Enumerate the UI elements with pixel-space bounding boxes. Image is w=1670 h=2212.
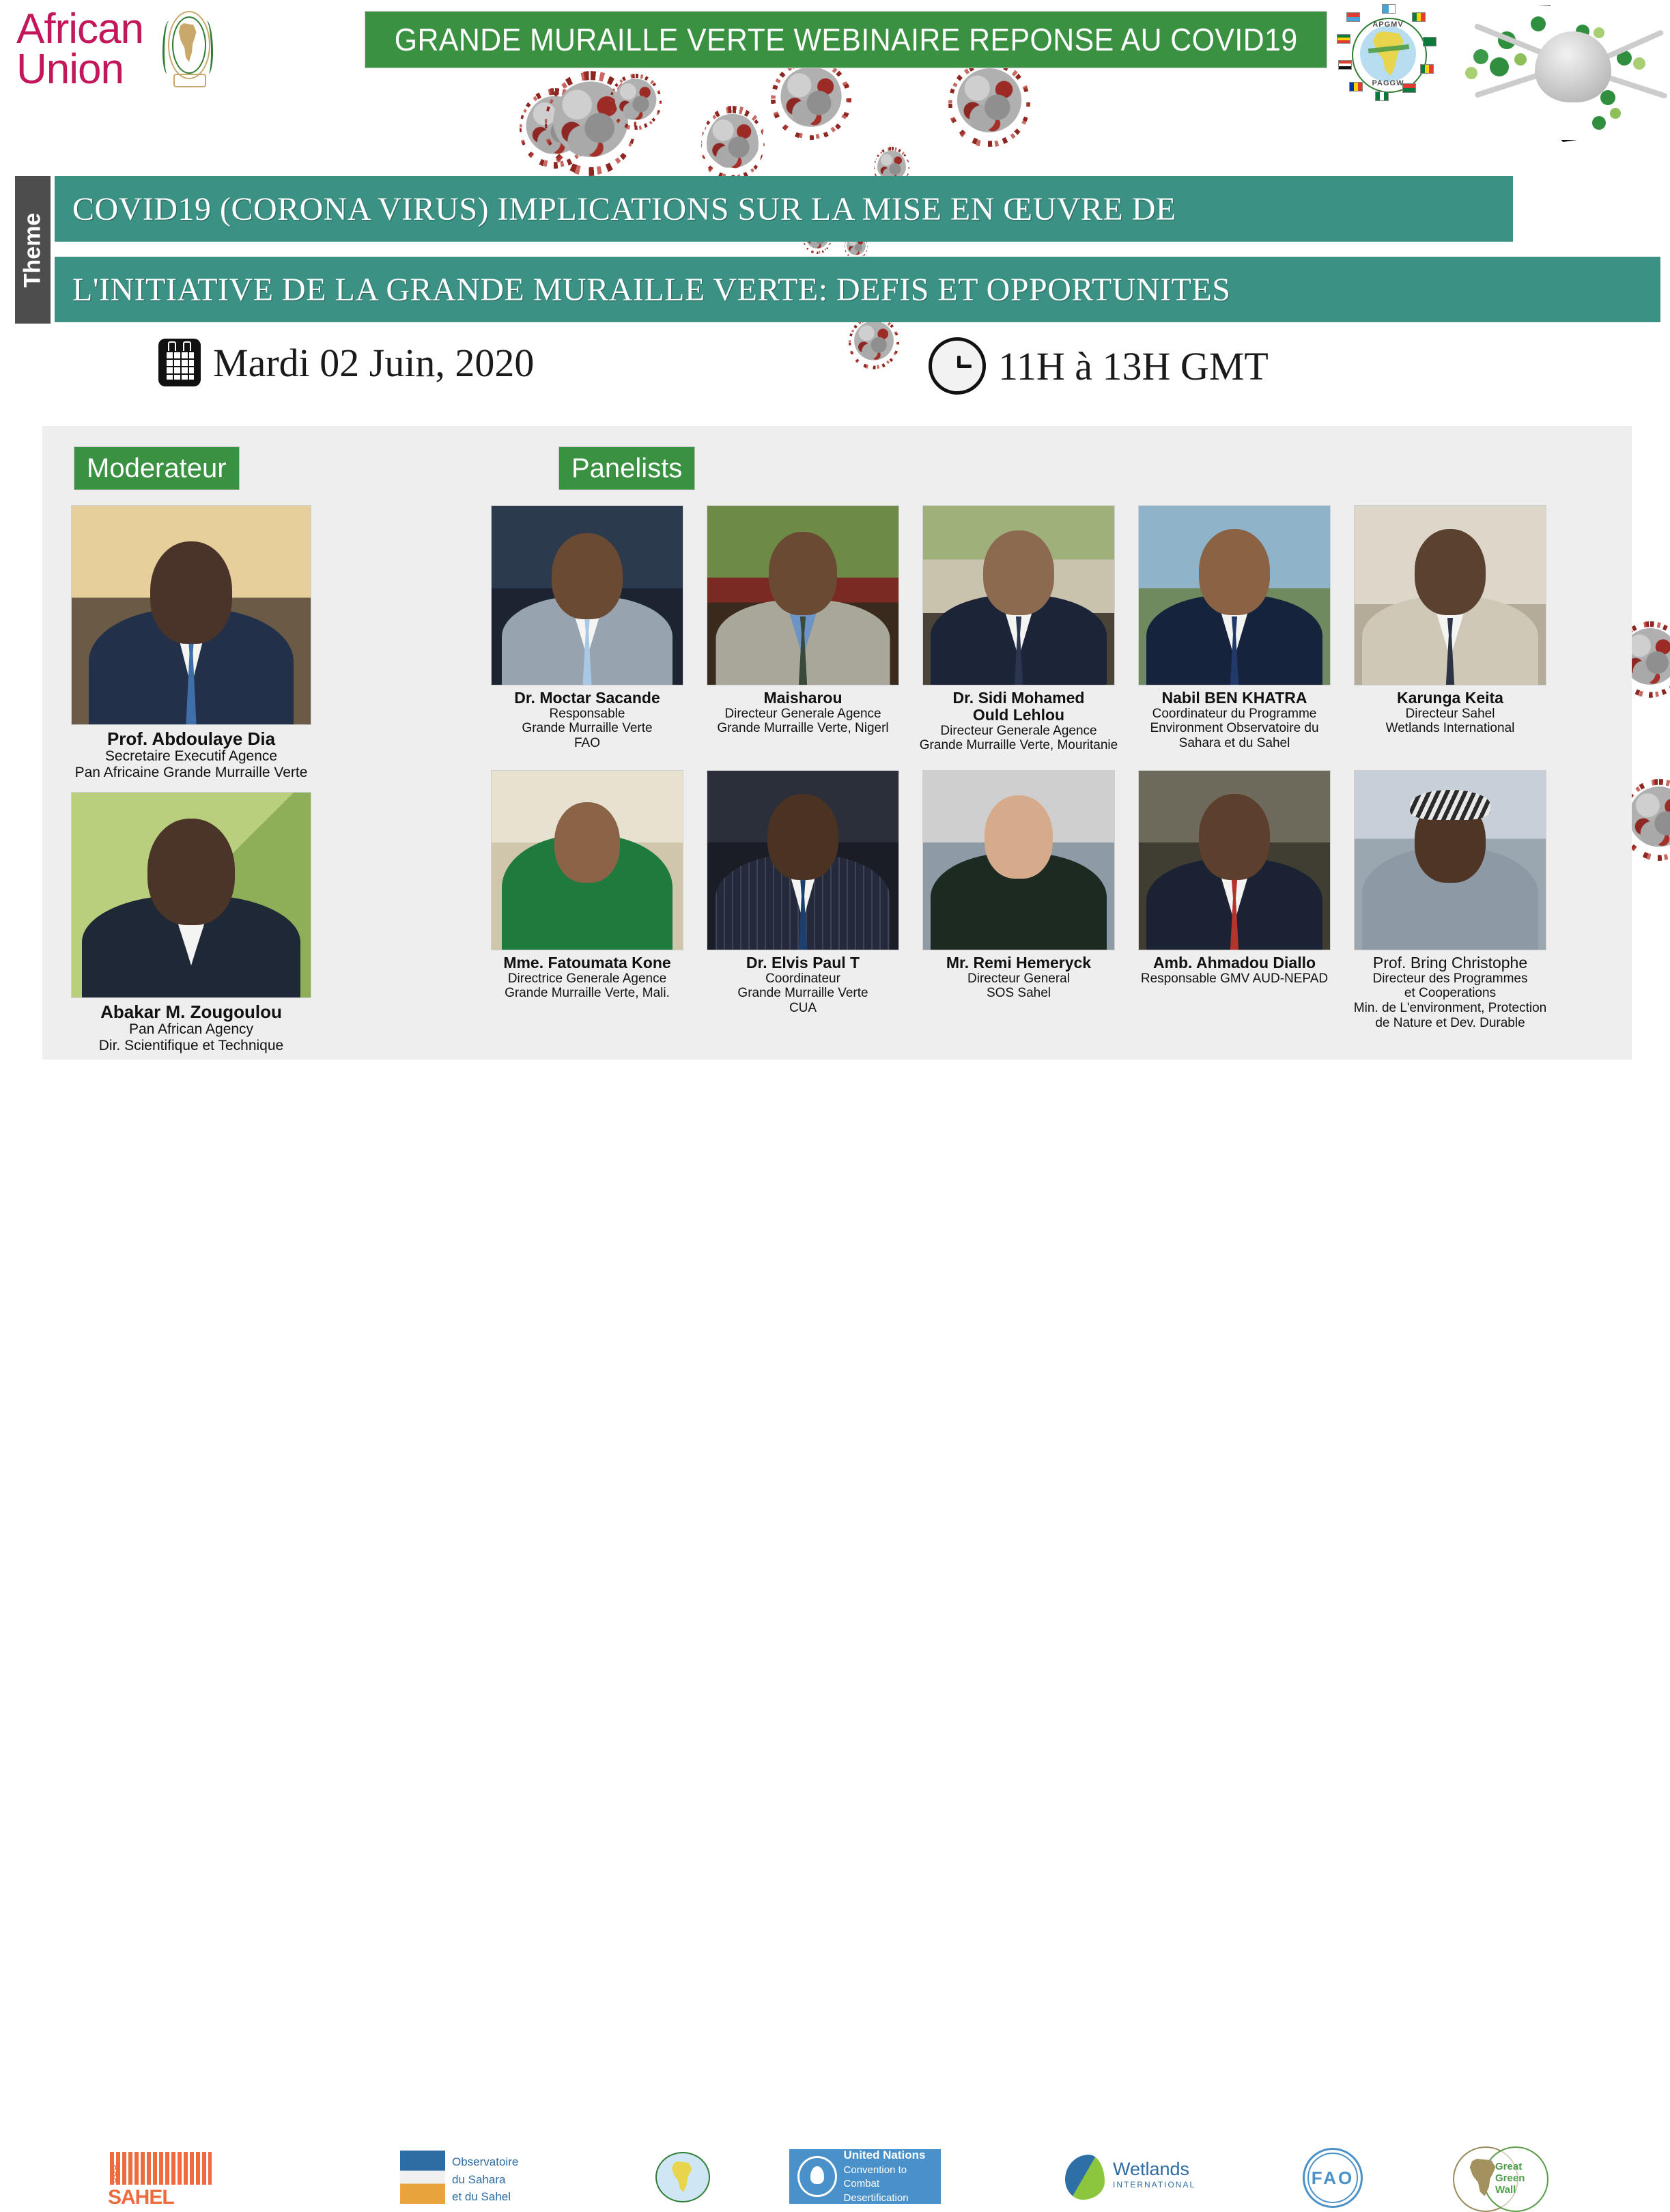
panelist-role: Directeur Sahel Wetlands International: [1341, 707, 1559, 736]
banner-title-text: GRANDE MURAILLE VERTE WEBINAIRE REPONSE …: [395, 21, 1298, 58]
theme-line-2-text: L'INITIATIVE DE LA GRANDE MURAILLE VERTE…: [72, 271, 1231, 309]
panelist-role: Coordinateur du Programme Environment Ob…: [1125, 707, 1344, 751]
theme-line-2: L'INITIATIVE DE LA GRANDE MURAILLE VERTE…: [55, 257, 1660, 322]
panelist-name: Nabil BEN KHATRA: [1125, 690, 1344, 707]
panelist-photo: [1138, 505, 1331, 685]
panelist-role: Responsable Grande Murraille Verte FAO: [478, 707, 696, 751]
moderator-role: Secretaire Executif Agence Pan Africaine…: [61, 748, 321, 781]
panelist-card[interactable]: Dr. Elvis Paul T Coordinateur Grande Mur…: [694, 770, 912, 1016]
unccd-line-3: Desertification: [844, 2192, 941, 2205]
panelist-name: Dr. Sidi Mohamed Ould Lehlou: [909, 690, 1128, 724]
wetlands-international-logo: Wetlands INTERNATIONAL: [1065, 2155, 1229, 2204]
un-seal-icon: [797, 2156, 837, 2197]
virus-particle-icon: [526, 96, 584, 161]
event-date-text: Mardi 02 Juin, 2020: [213, 340, 534, 386]
ggw-line-3: Wall: [1495, 2185, 1525, 2196]
moderator-section-label: Moderateur: [74, 446, 240, 490]
wetlands-line-2: INTERNATIONAL: [1113, 2180, 1195, 2189]
panelists-section-label: Panelists: [558, 446, 695, 490]
panelist-role: Directeur Generale Agence Grande Murrail…: [694, 707, 912, 736]
panelist-photo: [491, 770, 683, 950]
virus-particle-icon: [853, 321, 894, 365]
oss-logo: Observatoire du Sahara et du Sahel: [400, 2148, 571, 2207]
theme-tab-text: Theme: [20, 212, 46, 287]
au-line-2: Union: [16, 50, 153, 90]
sos-sahel-logo: SOS SAHEL: [108, 2152, 212, 2205]
oss-line-2: du Sahara: [452, 2171, 518, 2189]
panelists-label-text: Panelists: [571, 453, 682, 484]
panelist-photo: [1354, 770, 1546, 950]
panelist-role: Directeur General SOS Sahel: [909, 972, 1128, 1001]
virus-particle-icon: [553, 81, 628, 167]
moderator-label-text: Moderateur: [87, 453, 227, 484]
great-green-wall-logo: Great Green Wall: [1453, 2145, 1546, 2209]
fao-label: FAO: [1303, 2148, 1363, 2208]
panelist-role: Directeur Generale Agence Grande Murrail…: [909, 724, 1128, 753]
panelist-photo: [707, 770, 899, 950]
sos-sahel-sup-text: SOS: [108, 2165, 118, 2183]
panelist-photo: [922, 505, 1115, 685]
moderator-card[interactable]: Prof. Abdoulaye Dia Secretaire Executif …: [61, 505, 321, 781]
virus-particle-icon: [614, 79, 657, 125]
sos-sahel-word: SAHEL: [108, 2186, 174, 2209]
au-line-1: African: [16, 10, 153, 50]
poster-root: African Union GRANDE MURAILLE VERTE WEBI…: [0, 0, 1670, 1142]
ggw-line-2: Green: [1495, 2173, 1525, 2185]
panelist-name: Amb. Ahmadou Diallo: [1125, 954, 1344, 972]
panelist-card[interactable]: Maisharou Directeur Generale Agence Gran…: [694, 505, 912, 736]
oss-line-3: et du Sahel: [452, 2188, 518, 2206]
panelist-photo: [707, 505, 899, 685]
moderator-name: Prof. Abdoulaye Dia: [61, 729, 321, 748]
panelist-name: Mme. Fatoumata Kone: [478, 954, 696, 972]
panelist-name: Maisharou: [694, 690, 912, 707]
panelist-photo: [922, 770, 1115, 950]
panelist-name: Dr. Elvis Paul T: [694, 954, 912, 972]
theme-line-1-text: COVID19 (CORONA VIRUS) IMPLICATIONS SUR …: [72, 190, 1176, 228]
panelist-card[interactable]: Karunga Keita Directeur Sahel Wetlands I…: [1341, 505, 1559, 736]
event-time: 11H à 13H GMT: [929, 337, 1269, 395]
african-union-wordmark: African Union: [16, 10, 153, 90]
paggw-logo: [650, 2146, 716, 2208]
theme-tab-label: Theme: [15, 176, 51, 324]
panelist-card[interactable]: Mme. Fatoumata Kone Directrice Generale …: [478, 770, 696, 1001]
panelist-role: Directeur des Programmes et Cooperations…: [1341, 972, 1559, 1031]
wetlands-leaf-icon: [1065, 2155, 1105, 2200]
virus-particle-icon: [1628, 786, 1670, 853]
au-emblem-icon: [157, 8, 218, 91]
moderator-role: Pan African Agency Dir. Scientifique et …: [61, 1021, 321, 1054]
virus-particle-icon: [778, 67, 844, 132]
panelist-card[interactable]: Dr. Sidi Mohamed Ould Lehlou Directeur G…: [909, 505, 1128, 753]
unccd-line-1: United Nations: [844, 2149, 926, 2161]
unccd-logo: United Nations Convention to Combat Dese…: [789, 2149, 941, 2204]
panelist-card[interactable]: Dr. Moctar Sacande Responsable Grande Mu…: [478, 505, 696, 751]
african-union-logo: African Union: [16, 5, 221, 94]
panelist-name: Karunga Keita: [1341, 690, 1559, 707]
panelist-card[interactable]: Prof. Bring Christophe Directeur des Pro…: [1341, 770, 1559, 1030]
moderator-card[interactable]: Abakar M. Zougoulou Pan African Agency D…: [61, 792, 321, 1054]
virus-particle-icon: [707, 113, 759, 175]
event-date: Mardi 02 Juin, 2020: [158, 339, 534, 386]
panelist-name: Mr. Remi Hemeryck: [909, 954, 1128, 972]
panelist-role: Responsable GMV AUD-NEPAD: [1125, 972, 1344, 987]
panelist-card[interactable]: Nabil BEN KHATRA Coordinateur du Program…: [1125, 505, 1344, 751]
clock-icon: [929, 337, 986, 395]
virus-particle-icon: [956, 68, 1023, 139]
oss-line-1: Observatoire: [452, 2153, 518, 2171]
unccd-line-2: Convention to Combat: [844, 2164, 941, 2192]
event-time-text: 11H à 13H GMT: [998, 343, 1269, 389]
panelist-role: Coordinateur Grande Murraille Verte CUA: [694, 972, 912, 1016]
moderator-photo: [71, 792, 311, 998]
calendar-icon: [158, 339, 201, 386]
wetlands-line-1: Wetlands: [1113, 2159, 1195, 2180]
panelist-name: Dr. Moctar Sacande: [478, 690, 696, 707]
panelist-card[interactable]: Mr. Remi Hemeryck Directeur General SOS …: [909, 770, 1128, 1001]
moderator-photo: [71, 505, 311, 725]
africa-map-facemask-graphic: [1449, 0, 1670, 137]
panelist-role: Directrice Generale Agence Grande Murrai…: [478, 972, 696, 1001]
panelist-photo: [1138, 770, 1331, 950]
panelist-card[interactable]: Amb. Ahmadou Diallo Responsable GMV AUD-…: [1125, 770, 1344, 986]
apgmv-seal-logo: APGMV PAGGW: [1337, 3, 1439, 105]
moderator-name: Abakar M. Zougoulou: [61, 1002, 321, 1021]
webinar-banner-title: GRANDE MURAILLE VERTE WEBINAIRE REPONSE …: [365, 11, 1327, 68]
fao-logo: FAO: [1303, 2148, 1363, 2208]
partner-logos-bar: SOS SAHEL Observatoire du Sahara et du S…: [0, 1069, 1670, 1142]
panelist-name: Prof. Bring Christophe: [1341, 954, 1559, 972]
panelist-photo: [1354, 505, 1546, 685]
theme-line-1: COVID19 (CORONA VIRUS) IMPLICATIONS SUR …: [55, 176, 1513, 242]
panelist-photo: [491, 505, 683, 685]
ggw-line-1: Great: [1495, 2161, 1525, 2173]
